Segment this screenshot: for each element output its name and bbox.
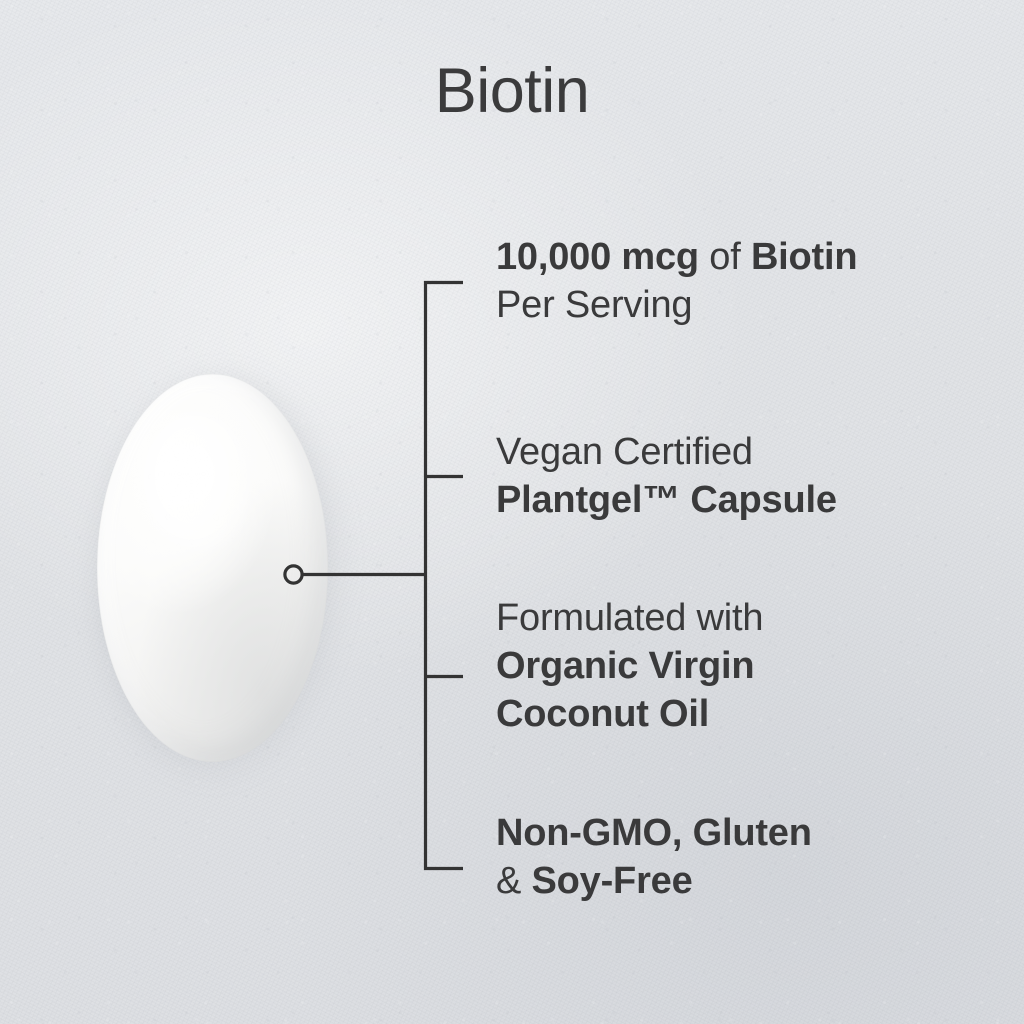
- text-run-regular: of: [699, 236, 751, 278]
- text-run-bold: Plantgel™ Capsule: [496, 479, 837, 521]
- text-run-regular: Per Serving: [496, 284, 692, 326]
- feature-coconut-oil: Formulated withOrganic VirginCoconut Oil: [496, 594, 763, 738]
- text-run-bold: Coconut Oil: [496, 693, 709, 735]
- feature-vegan-capsule: Vegan CertifiedPlantgel™ Capsule: [496, 428, 837, 524]
- feature-line: Coconut Oil: [496, 690, 763, 738]
- feature-line: Per Serving: [496, 281, 857, 329]
- text-run-bold: Soy-Free: [532, 860, 693, 902]
- text-run-bold: Organic Virgin: [496, 645, 754, 687]
- page-title: Biotin: [0, 60, 1024, 123]
- text-run-bold: 10,000 mcg: [496, 236, 699, 278]
- feature-line: Plantgel™ Capsule: [496, 476, 837, 524]
- capsule-image: [97, 374, 328, 762]
- text-run-bold: Non-GMO, Gluten: [496, 812, 812, 854]
- feature-line: Organic Virgin: [496, 642, 763, 690]
- feature-line: & Soy-Free: [496, 857, 812, 905]
- feature-line: Vegan Certified: [496, 428, 837, 476]
- feature-line: 10,000 mcg of Biotin: [496, 233, 857, 281]
- capsule-body: [97, 374, 328, 762]
- infographic-canvas: Biotin 10,000 mcg of BiotinPer Serving V…: [0, 0, 1024, 1024]
- feature-line: Formulated with: [496, 594, 763, 642]
- feature-line: Non-GMO, Gluten: [496, 809, 812, 857]
- text-run-bold: Biotin: [751, 236, 857, 278]
- text-run-regular: Formulated with: [496, 597, 763, 639]
- text-run-regular: Vegan Certified: [496, 431, 753, 473]
- feature-dosage: 10,000 mcg of BiotinPer Serving: [496, 233, 857, 329]
- text-run-regular: &: [496, 860, 532, 902]
- feature-free-from: Non-GMO, Gluten& Soy-Free: [496, 809, 812, 905]
